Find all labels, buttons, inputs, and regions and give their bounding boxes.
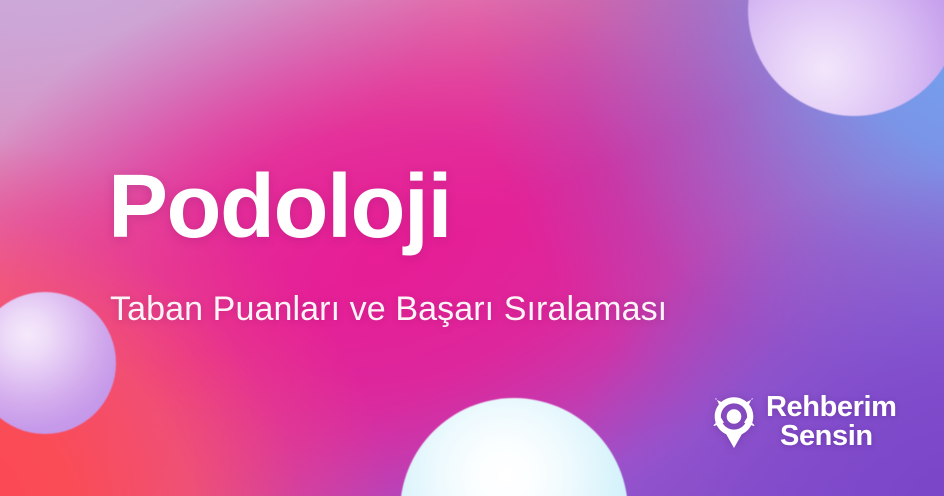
brand-logo-line-2: Sensin xyxy=(766,422,873,451)
page-title: Podoloji xyxy=(108,162,451,252)
page-subtitle: Taban Puanları ve Başarı Sıralaması xyxy=(110,291,667,328)
brand-logo-line-1: Rehberim xyxy=(766,393,897,422)
brand-logo-text: Rehberim Sensin xyxy=(766,393,897,450)
brand-logo[interactable]: Rehberim Sensin xyxy=(710,393,897,451)
hero-banner: Podoloji Taban Puanları ve Başarı Sırala… xyxy=(0,0,944,496)
location-pin-compass-icon xyxy=(710,393,758,451)
